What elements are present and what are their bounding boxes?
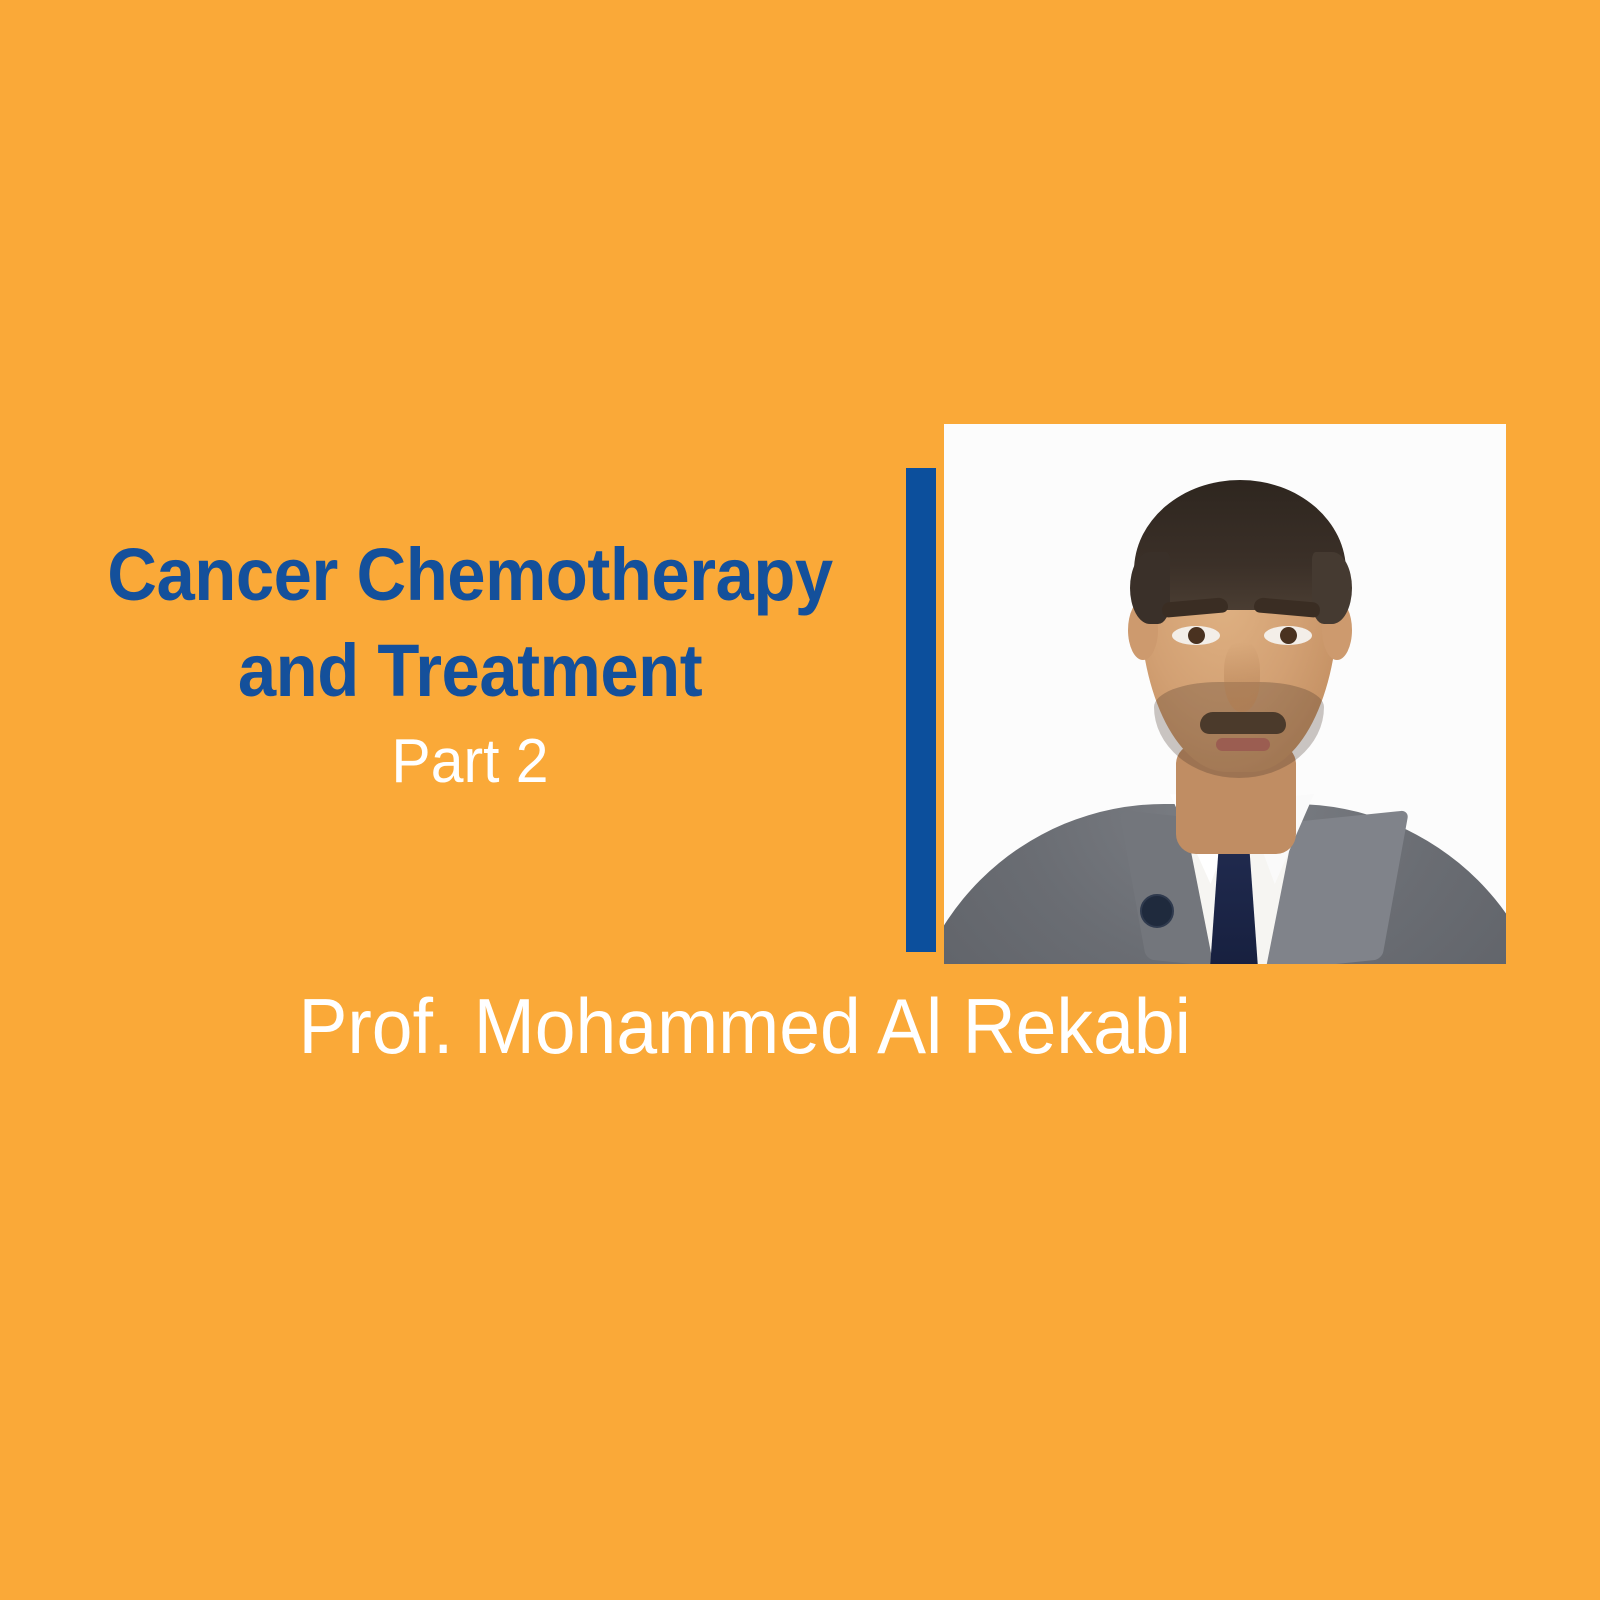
presenter-name: Prof. Mohammed Al Rekabi [0,980,1490,1072]
presenter-name-text: Prof. Mohammed Al Rekabi [299,980,1191,1072]
accent-bar [906,468,936,952]
iris-left [1188,627,1205,644]
moustache [1200,712,1286,734]
title-line-2: and Treatment [70,623,870,719]
title-slide: Cancer Chemotherapy and Treatment Part 2 [0,0,1600,1600]
title-block: Cancer Chemotherapy and Treatment Part 2 [40,527,900,805]
presenter-portrait [944,424,1506,964]
nose [1224,642,1260,712]
mouth [1216,738,1270,751]
subtitle-part-number: Part 2 [62,719,879,805]
title-line-1: Cancer Chemotherapy [70,527,870,623]
lapel-pin-icon [1140,894,1174,928]
iris-right [1280,627,1297,644]
